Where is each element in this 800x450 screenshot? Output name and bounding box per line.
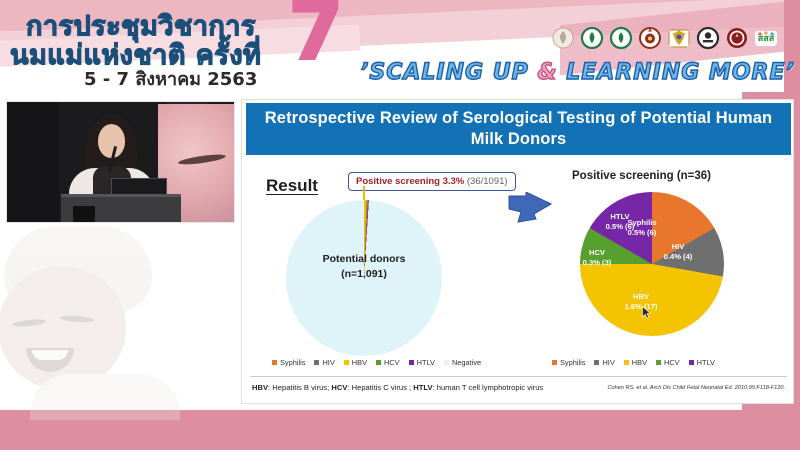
legend2-swatch-htlv — [689, 360, 694, 365]
thai-emblem-logo — [638, 26, 662, 50]
royal-garuda-logo — [667, 26, 691, 50]
footnote-hcv-key: HCV — [331, 383, 347, 392]
pie-slice-label-hbv: HBV 1.6% (17) — [612, 292, 670, 313]
slide-title: Retrospective Review of Serological Test… — [246, 103, 791, 155]
footnote-htlv-key: HTLV — [413, 383, 432, 392]
tagline-ampersand: & — [537, 60, 557, 85]
mahidol-logo — [696, 26, 720, 50]
footnote-hcv-value: : Hepatitis C virus ; — [347, 383, 413, 392]
royal-seal-logo — [551, 26, 575, 50]
slice-hcv-value: 0.3% (3) — [575, 258, 619, 268]
footnote-hbv-key: HBV — [252, 383, 268, 392]
conference-tagline: ’SCALING UP & LEARNING MORE’ — [360, 60, 795, 85]
footnote-htlv-value: : human T cell lymphotropic virus — [433, 383, 544, 392]
potential-donors-legend: Syphilis HIV HBV HCV HTLV Negative — [272, 358, 481, 367]
legend2-swatch-hcv — [656, 360, 661, 365]
positive-screening-legend: Syphilis HIV HBV HCV HTLV — [552, 358, 715, 367]
legend2-swatch-syphilis — [552, 360, 557, 365]
baby-body — [30, 374, 180, 420]
legend-label-hcv: HCV — [384, 358, 400, 367]
video-overlay-face-brow — [178, 153, 227, 167]
podium-front-panel — [73, 206, 95, 223]
slice-hbv-name: HBV — [612, 292, 670, 302]
positive-screening-callout: Positive screening 3.3% (36/1091) — [348, 172, 516, 191]
ministry-of-public-health-logo — [580, 26, 604, 50]
legend2-item-htlv: HTLV — [689, 358, 715, 367]
legend-label-syphilis: Syphilis — [280, 358, 305, 367]
legend2-label-syphilis: Syphilis — [560, 358, 585, 367]
conference-date: 5 - 7 สิงหาคม 2563 — [84, 64, 257, 92]
legend2-label-hbv: HBV — [632, 358, 647, 367]
potential-donors-label-line2: (n=1,091) — [286, 267, 442, 282]
callout-percentage: Positive screening 3.3% — [356, 176, 464, 187]
legend-item-syphilis: Syphilis — [272, 358, 305, 367]
pie-slice-label-htlv: HTLV 0.5% (6) — [597, 212, 643, 233]
presentation-slide: Retrospective Review of Serological Test… — [241, 99, 794, 404]
legend-label-hbv: HBV — [352, 358, 367, 367]
slice-hiv-name: HIV — [654, 242, 702, 252]
legend2-swatch-hbv — [624, 360, 629, 365]
legend2-item-hcv: HCV — [656, 358, 680, 367]
callout-fraction: (36/1091) — [467, 176, 508, 187]
legend2-item-hiv: HIV — [594, 358, 614, 367]
medical-council-logo — [725, 26, 749, 50]
legend-swatch-negative — [444, 360, 449, 365]
tagline-part-2: LEARNING MORE’ — [558, 60, 795, 85]
slice-hbv-value: 1.6% (17) — [612, 302, 670, 312]
legend2-label-htlv: HTLV — [697, 358, 715, 367]
footnote-hbv-value: : Hepatitis B virus; — [268, 383, 331, 392]
slice-hiv-value: 0.4% (4) — [654, 252, 702, 262]
result-heading: Result — [266, 176, 318, 196]
footer-divider — [250, 376, 787, 377]
legend2-item-syphilis: Syphilis — [552, 358, 585, 367]
legend-swatch-htlv — [409, 360, 414, 365]
source-citation: Cohen RS, et al. Arch Dis Child Fetal Ne… — [607, 385, 785, 391]
positive-screening-chart-title: Positive screening (n=36) — [572, 170, 711, 182]
tagline-part-1: ’SCALING UP — [360, 60, 537, 85]
pie-slice-label-hiv: HIV 0.4% (4) — [654, 242, 702, 263]
legend-item-hbv: HBV — [344, 358, 367, 367]
potential-donors-center-label: Potential donors (n=1,091) — [286, 252, 442, 282]
video-background-left — [7, 102, 59, 222]
legend-swatch-syphilis — [272, 360, 277, 365]
sponsor-logos: สสส — [551, 26, 778, 50]
pie-slice-label-hcv: HCV 0.3% (3) — [575, 248, 619, 269]
department-of-health-logo — [609, 26, 633, 50]
legend-item-hcv: HCV — [376, 358, 400, 367]
legend2-swatch-hiv — [594, 360, 599, 365]
thaihealth-sss-logo: สสส — [754, 26, 778, 50]
conference-edition-number: 7 — [288, 0, 344, 72]
legend-swatch-hcv — [376, 360, 381, 365]
baby-head — [0, 266, 126, 390]
legend-swatch-hiv — [314, 360, 319, 365]
potential-donors-label-line1: Potential donors — [286, 252, 442, 267]
blue-arrow-icon — [508, 192, 552, 232]
legend-item-negative: Negative — [444, 358, 481, 367]
slice-htlv-name: HTLV — [597, 212, 643, 222]
baby-teeth — [32, 350, 68, 360]
legend-swatch-hbv — [344, 360, 349, 365]
abbreviation-footnote: HBV: Hepatitis B virus; HCV: Hepatitis C… — [252, 383, 543, 392]
slice-htlv-value: 0.5% (6) — [597, 222, 643, 232]
legend2-label-hiv: HIV — [602, 358, 614, 367]
mouse-cursor-icon — [642, 306, 651, 319]
legend-item-hiv: HIV — [314, 358, 334, 367]
legend-label-negative: Negative — [452, 358, 481, 367]
baby-watermark-image — [0, 224, 192, 410]
legend2-item-hbv: HBV — [624, 358, 647, 367]
conference-header-banner: การประชุมวิชาการ นมแม่แห่งชาติ ครั้งที่ … — [0, 0, 800, 92]
legend-item-htlv: HTLV — [409, 358, 435, 367]
legend-label-hiv: HIV — [322, 358, 334, 367]
legend-label-htlv: HTLV — [417, 358, 435, 367]
speaker-video-feed[interactable] — [6, 101, 235, 223]
slide-screenshot: การประชุมวิชาการ นมแม่แห่งชาติ ครั้งที่ … — [0, 0, 800, 450]
slice-hcv-name: HCV — [575, 248, 619, 258]
legend2-label-hcv: HCV — [664, 358, 680, 367]
